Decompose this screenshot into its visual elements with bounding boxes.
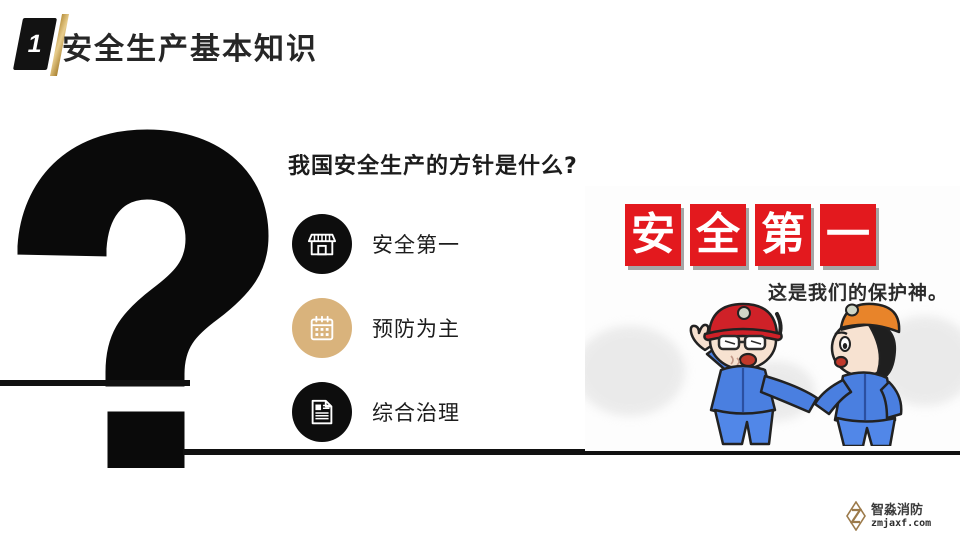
question-mark-graphic xyxy=(0,118,292,468)
list-item[interactable]: 综合治理 xyxy=(292,382,552,466)
storefront-icon xyxy=(292,214,352,274)
banner-characters: 安 全 第 一 xyxy=(625,204,876,266)
list-item[interactable]: 预防为主 xyxy=(292,298,552,382)
watermark-text: 智淼消防 zmjaxf.com xyxy=(871,504,931,529)
safety-poster-illustration: 安 全 第 一 这是我们的保护神。 xyxy=(585,186,960,451)
divider-line-left xyxy=(0,380,190,386)
watermark-brand: 智淼消防 xyxy=(871,504,931,517)
slide-header: 1 安全生产基本知识 xyxy=(0,0,960,100)
list-item-label: 综合治理 xyxy=(372,397,460,427)
watermark: 智淼消防 zmjaxf.com xyxy=(846,500,954,532)
document-icon xyxy=(292,382,352,442)
banner-char: 第 xyxy=(755,204,811,266)
slide: 1 安全生产基本知识 我国安全生产的方针是什么? xyxy=(0,0,960,540)
calendar-icon xyxy=(292,298,352,358)
question-text: 我国安全生产的方针是什么? xyxy=(288,148,578,180)
banner-char: 全 xyxy=(690,204,746,266)
answer-list: 安全第一 预防为主 xyxy=(292,214,552,466)
page-title: 安全生产基本知识 xyxy=(62,30,318,70)
banner-char: 一 xyxy=(820,204,876,266)
list-item-label: 安全第一 xyxy=(372,229,460,259)
watermark-url: zmjaxf.com xyxy=(871,519,931,529)
brand-diamond-icon xyxy=(846,501,866,531)
list-item-label: 预防为主 xyxy=(372,313,460,343)
banner-char: 安 xyxy=(625,204,681,266)
list-item[interactable]: 安全第一 xyxy=(292,214,552,298)
badge-number: 1 xyxy=(13,18,57,70)
section-number-badge: 1 xyxy=(18,18,68,74)
